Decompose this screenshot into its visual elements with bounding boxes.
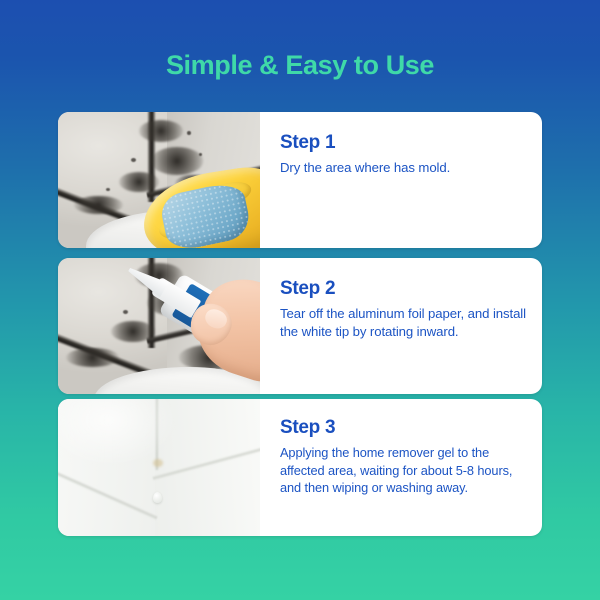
step-2-photo: CLEANER Gel type [58,258,260,394]
step-1-text: Step 1 Dry the area where has mold. [260,112,542,248]
step-2-body: Tear off the aluminum foil paper, and in… [280,305,526,341]
surface-gloss-highlight [58,399,179,468]
mold-patch [74,196,122,214]
mold-patch [66,348,119,367]
step-1-body: Dry the area where has mold. [280,159,526,177]
step-3-body: Applying the home remover gel to the aff… [280,444,526,497]
step-1-photo [58,112,260,248]
water-droplet [153,492,162,503]
step-3-photo [58,399,260,536]
mold-patch [139,120,183,142]
step-2-text: Step 2 Tear off the aluminum foil paper,… [260,258,542,394]
step-1-heading: Step 1 [280,132,526,154]
mold-patch [151,147,204,174]
promo-poster: Simple & Easy to Use [0,0,600,600]
step-3-text: Step 3 Applying the home remover gel to … [260,399,542,536]
page-title: Simple & Easy to Use [0,50,600,81]
step-card-3: Step 3 Applying the home remover gel to … [58,399,542,536]
mold-patch [119,172,159,192]
step-3-heading: Step 3 [280,417,526,439]
step-2-heading: Step 2 [280,278,526,300]
step-card-1: Step 1 Dry the area where has mold. [58,112,542,248]
step-card-2: CLEANER Gel type Step 2 Tear off the alu… [58,258,542,394]
